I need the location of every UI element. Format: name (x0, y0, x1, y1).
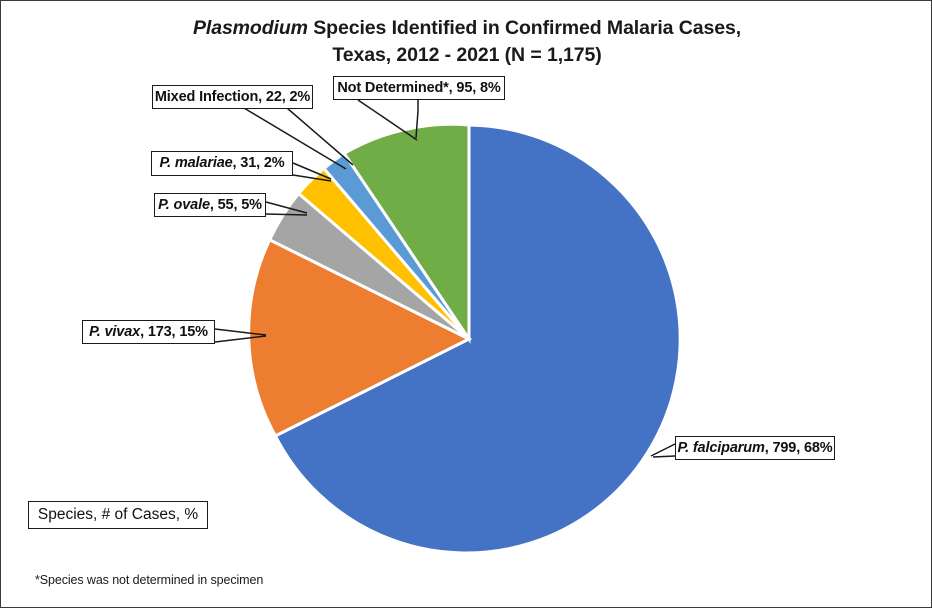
pie-label-p-ovale-rest: , 55, 5% (210, 198, 262, 213)
legend-key-text: Species, # of Cases, % (38, 506, 198, 524)
pie-label-not-determined-text: Not Determined*, 95, 8% (337, 81, 500, 96)
pie-label-p-vivax-rest: , 173, 15% (140, 325, 208, 340)
pie-slices (249, 124, 681, 553)
leader-line-p-falciparum (651, 444, 675, 456)
legend-key: Species, # of Cases, % (28, 501, 208, 529)
pie-label-p-malariae-species: P. malariae (159, 156, 232, 171)
leader-line-p-falciparum-2 (653, 456, 675, 457)
pie-label-p-malariae[interactable]: P. malariae, 31, 2% (151, 151, 293, 176)
leader-line-p-ovale-2 (266, 214, 307, 215)
pie-chart-figure: Plasmodium Species Identified in Confirm… (0, 0, 932, 608)
pie-label-p-falciparum[interactable]: P. falciparum, 799, 68% (675, 436, 835, 460)
pie-label-mixed-infection[interactable]: Mixed Infection, 22, 2% (152, 85, 313, 109)
pie-label-p-vivax-species: P. vivax (89, 325, 140, 340)
pie-label-p-vivax[interactable]: P. vivax, 173, 15% (82, 320, 215, 344)
pie-label-p-ovale[interactable]: P. ovale, 55, 5% (154, 193, 266, 217)
chart-footnote: *Species was not determined in specimen (35, 573, 263, 587)
pie-label-p-ovale-species: P. ovale (158, 198, 210, 213)
pie-label-mixed-infection-text: Mixed Infection, 22, 2% (155, 90, 310, 105)
leader-line-mixed-infection (287, 108, 353, 165)
pie-label-p-malariae-rest: , 31, 2% (233, 156, 285, 171)
pie-label-not-determined[interactable]: Not Determined*, 95, 8% (333, 76, 505, 100)
pie-label-p-falciparum-species: P. falciparum (677, 441, 764, 456)
pie-label-p-falciparum-rest: , 799, 68% (765, 441, 833, 456)
